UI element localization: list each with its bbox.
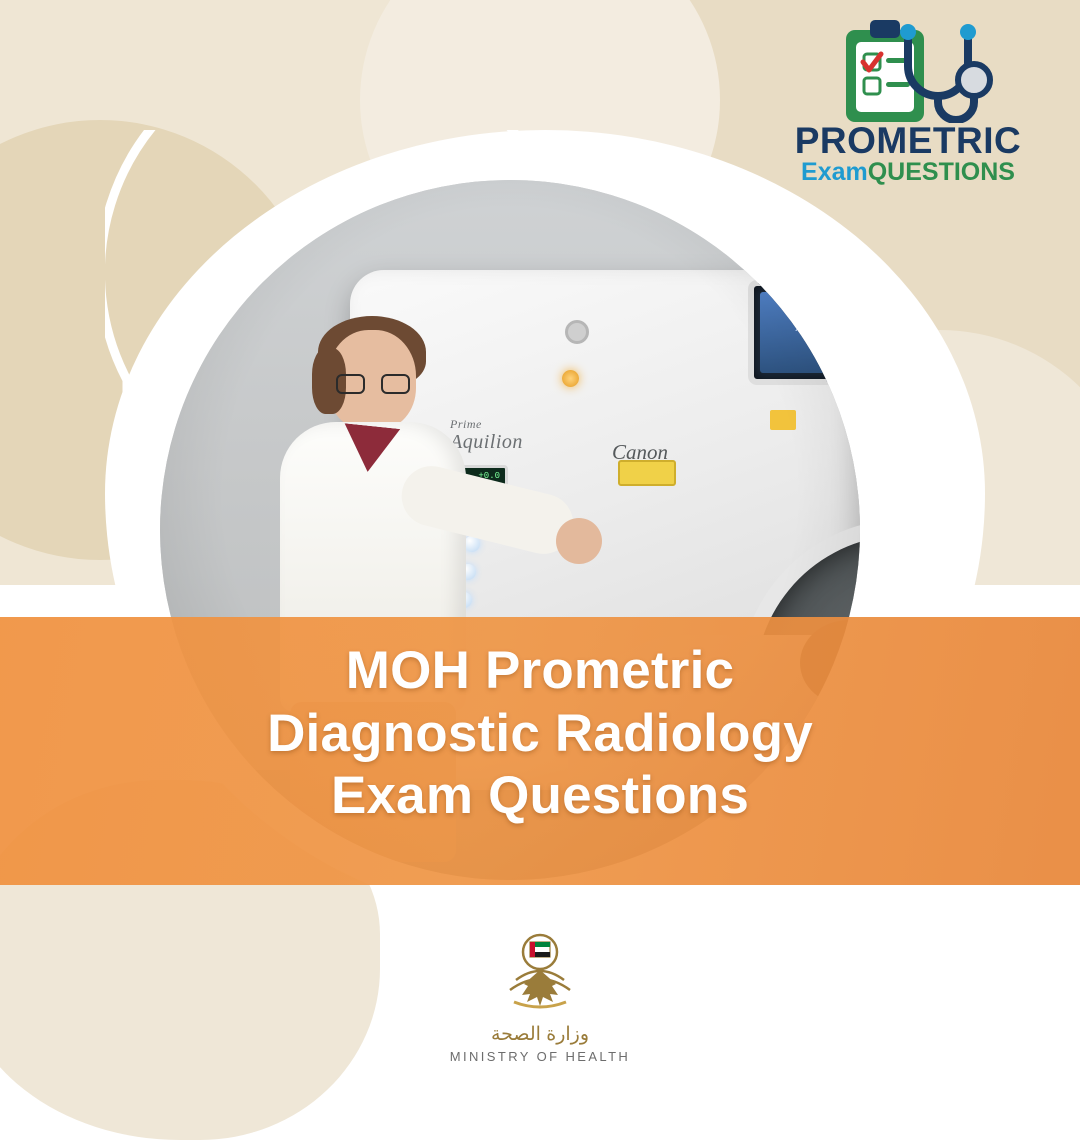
ministry-name-english: MINISTRY OF HEALTH xyxy=(0,1049,1080,1064)
logo-graphic xyxy=(758,18,1058,123)
title-line-2: Diagnostic Radiology xyxy=(0,703,1080,766)
title-line-3: Exam Questions xyxy=(0,765,1080,828)
ministry-name-arabic: وزارة الصحة xyxy=(0,1023,1080,1046)
brand-logo[interactable]: PROMETRIC ExamQUESTIONS xyxy=(758,18,1058,193)
logo-wordmark: PROMETRIC ExamQUESTIONS xyxy=(758,120,1058,187)
logo-title: PROMETRIC xyxy=(758,120,1058,162)
title-line-1: MOH Prometric xyxy=(0,640,1080,703)
logo-questions-word: QUESTIONS xyxy=(868,158,1015,186)
page-title: MOH Prometric Diagnostic Radiology Exam … xyxy=(0,640,1080,828)
logo-exam-word: Exam xyxy=(801,158,868,186)
ministry-of-health-footer: وزارة الصحة MINISTRY OF HEALTH xyxy=(0,918,1080,1064)
logo-subtitle: ExamQUESTIONS xyxy=(758,158,1058,187)
uae-emblem-icon xyxy=(486,918,594,1014)
